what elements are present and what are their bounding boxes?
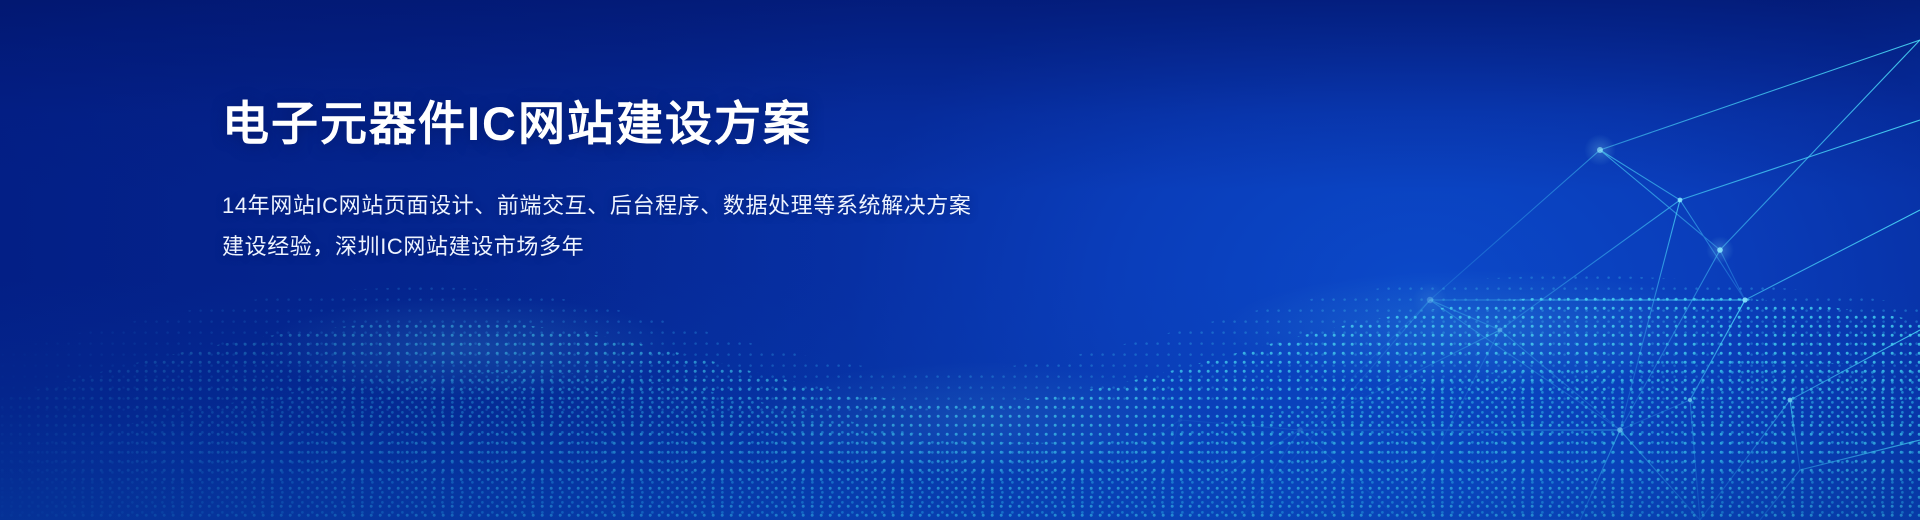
banner-subtitle-line-1: 14年网站IC网站页面设计、前端交互、后台程序、数据处理等系统解决方案 — [222, 185, 1202, 226]
banner-title: 电子元器件IC网站建设方案 — [222, 96, 1202, 151]
banner-subtitle-line-2: 建设经验，深圳IC网站建设市场多年 — [222, 226, 1202, 267]
hero-banner: 电子元器件IC网站建设方案 14年网站IC网站页面设计、前端交互、后台程序、数据… — [0, 0, 1920, 520]
hero-content: 电子元器件IC网站建设方案 14年网站IC网站页面设计、前端交互、后台程序、数据… — [222, 96, 1202, 267]
banner-subtitle: 14年网站IC网站页面设计、前端交互、后台程序、数据处理等系统解决方案 建设经验… — [222, 151, 1202, 267]
